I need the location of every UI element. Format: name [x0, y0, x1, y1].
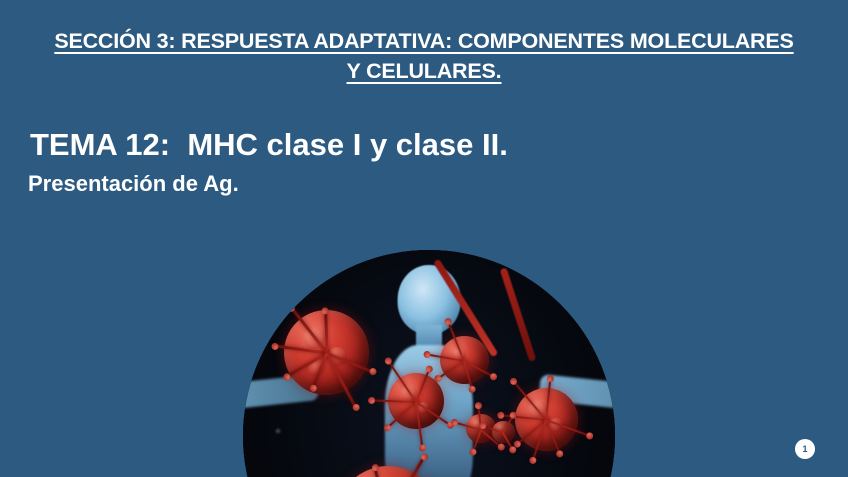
- section-heading-line-1-text: SECCIÓN 3: RESPUESTA ADAPTATIVA: COMPONE…: [54, 29, 793, 53]
- page-number-badge: 1: [795, 439, 815, 459]
- section-heading-line-2-text: Y CELULARES.: [347, 59, 502, 83]
- section-heading: SECCIÓN 3: RESPUESTA ADAPTATIVA: COMPONE…: [18, 26, 830, 86]
- slide: SECCIÓN 3: RESPUESTA ADAPTATIVA: COMPONE…: [0, 0, 848, 477]
- spiky-cell-upper-center-right: [440, 336, 488, 384]
- topic-subtitle: Presentación de Ag.: [28, 170, 239, 198]
- spiky-cell-upper-left: [284, 310, 370, 396]
- topic-title: TEMA 12: MHC clase I y clase II.: [30, 126, 508, 164]
- illustration-backdrop: [243, 250, 615, 477]
- spiky-cell-tiny-right: [492, 421, 514, 443]
- circular-illustration: [243, 250, 615, 477]
- spiky-cell-right: [515, 388, 578, 451]
- section-heading-line-1: SECCIÓN 3: RESPUESTA ADAPTATIVA: COMPONE…: [18, 26, 830, 56]
- section-heading-line-2: Y CELULARES.: [18, 56, 830, 86]
